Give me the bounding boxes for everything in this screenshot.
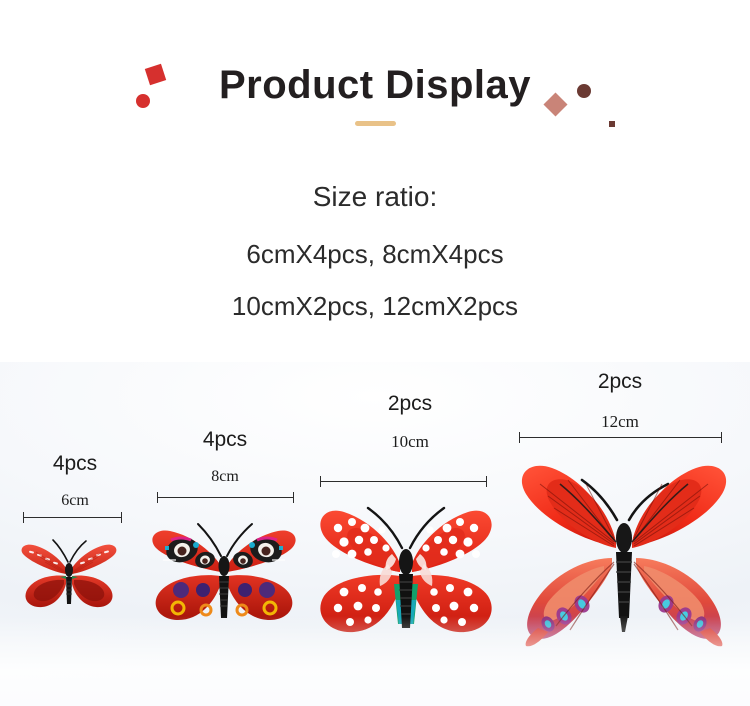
- product-group-8cm: 4pcs 8cm: [140, 362, 315, 642]
- quantity-label-10cm: 2pcs: [350, 392, 470, 416]
- size-ratio-block: Size ratio: 6cmX4pcs, 8cmX4pcs 10cmX2pcs…: [0, 180, 750, 332]
- size-label-10cm: 10cm: [350, 432, 470, 452]
- quantity-label-8cm: 4pcs: [170, 428, 280, 452]
- butterfly-image-8cm: [148, 510, 300, 628]
- dimension-bar: [519, 437, 722, 438]
- product-group-12cm: 2pcs 12cm: [500, 362, 750, 702]
- quantity-label-12cm: 2pcs: [560, 370, 680, 394]
- dimension-cap-right: [721, 432, 722, 443]
- dimension-line-6cm: [23, 512, 122, 523]
- quantity-label-6cm: 4pcs: [20, 452, 130, 476]
- product-display-page: Product Display Size ratio: 6cmX4pcs, 8c…: [0, 0, 750, 706]
- dimension-bar: [320, 481, 487, 482]
- product-group-6cm: 4pcs 6cm: [0, 362, 140, 622]
- dimension-cap-right: [293, 492, 294, 503]
- dimension-line-10cm: [320, 476, 487, 487]
- dimension-line-12cm: [519, 432, 722, 443]
- product-photo-area: 4pcs 6cm: [0, 362, 750, 706]
- dimension-cap-right: [486, 476, 487, 487]
- butterfly-image-10cm: [310, 492, 502, 640]
- size-ratio-heading: Size ratio:: [0, 180, 750, 214]
- butterfly-image-6cm: [16, 532, 122, 612]
- butterfly-image-12cm: [508, 450, 740, 650]
- size-ratio-line-2: 10cmX2pcs, 12cmX2pcs: [0, 280, 750, 332]
- size-label-6cm: 6cm: [20, 492, 130, 510]
- header-section: Product Display Size ratio: 6cmX4pcs, 8c…: [0, 0, 750, 362]
- size-label-8cm: 8cm: [170, 468, 280, 486]
- dimension-cap-right: [121, 512, 122, 523]
- dimension-bar: [157, 497, 294, 498]
- size-label-12cm: 12cm: [560, 412, 680, 432]
- size-ratio-line-1: 6cmX4pcs, 8cmX4pcs: [0, 228, 750, 280]
- page-title: Product Display: [0, 60, 750, 110]
- title-underline-rule: [355, 121, 396, 126]
- decor-square-tiny-icon: [609, 121, 615, 127]
- dimension-bar: [23, 517, 122, 518]
- product-group-10cm: 2pcs 10cm: [315, 362, 515, 662]
- dimension-line-8cm: [157, 492, 294, 503]
